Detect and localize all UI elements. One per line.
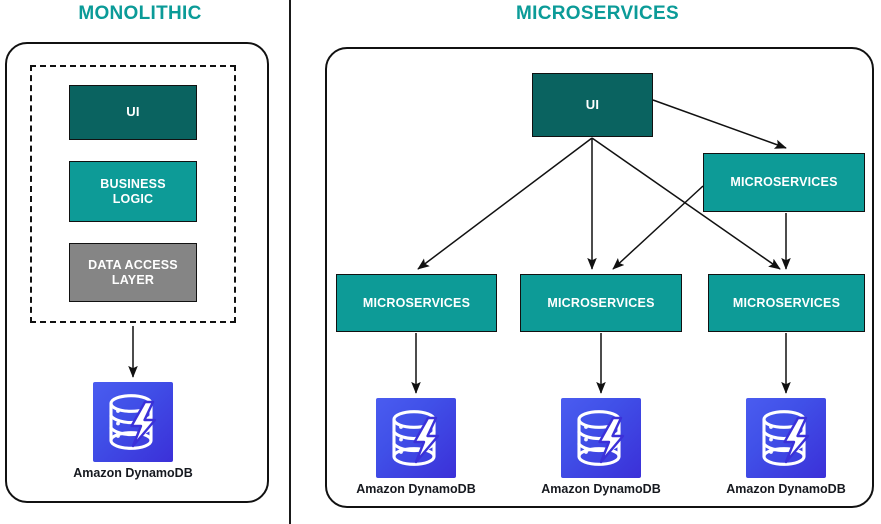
panel-divider [289,0,291,524]
microservice-1-dynamodb[interactable]: Amazon DynamoDB [376,398,456,478]
microservice-1-box[interactable]: MICROSERVICES [336,274,497,332]
microservice-2-dynamodb-label: Amazon DynamoDB [516,482,686,496]
monolith-data-access-layer-box[interactable]: DATA ACCESS LAYER [69,243,197,302]
microservice-3-box[interactable]: MICROSERVICES [708,274,865,332]
dynamodb-icon [561,398,641,478]
microservice-2-dynamodb[interactable]: Amazon DynamoDB [561,398,641,478]
diagram-canvas: MONOLITHIC MICROSERVICES UI BUSINESS LOG… [0,0,881,524]
microservices-panel-title: MICROSERVICES [325,3,870,25]
dynamodb-icon [93,382,173,462]
microservice-2-box[interactable]: MICROSERVICES [520,274,682,332]
monolithic-panel-title: MONOLITHIC [0,3,280,25]
microservice-3-dynamodb-label: Amazon DynamoDB [701,482,871,496]
dynamodb-icon [376,398,456,478]
monolith-dynamodb[interactable]: Amazon DynamoDB [93,382,173,462]
dynamodb-icon [746,398,826,478]
microservice-1-dynamodb-label: Amazon DynamoDB [331,482,501,496]
monolith-ui-box[interactable]: UI [69,85,197,140]
monolith-business-logic-box[interactable]: BUSINESS LOGIC [69,161,197,222]
monolith-dynamodb-label: Amazon DynamoDB [48,466,218,480]
microservice-top-right-box[interactable]: MICROSERVICES [703,153,865,212]
microservices-ui-box[interactable]: UI [532,73,653,137]
microservice-3-dynamodb[interactable]: Amazon DynamoDB [746,398,826,478]
